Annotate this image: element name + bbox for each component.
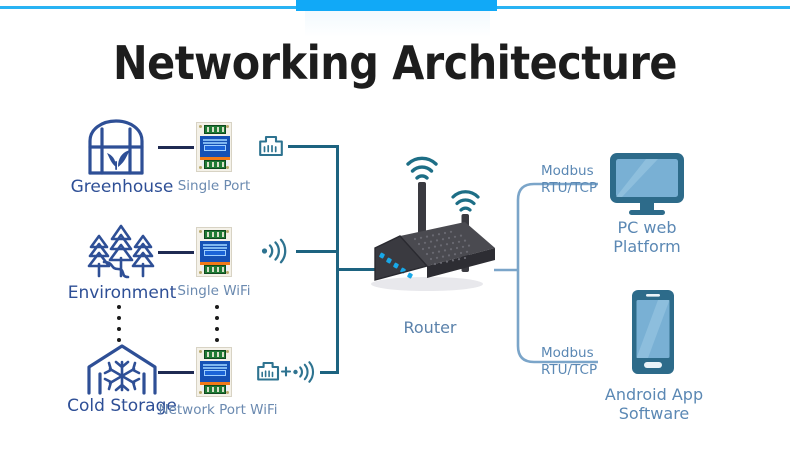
protocol-label-android-line1: Modbus [541,345,594,361]
link-greenhouse-to-device [158,146,194,149]
device-module-single-wifi [196,227,232,277]
cold-storage-icon [85,343,159,397]
router-node [355,140,505,300]
router-icon [355,140,505,300]
output-label-android-line1: Android App [580,385,728,404]
wifi-signal-icon [260,238,290,264]
device-module-network-port-wifi [196,347,232,397]
protocol-label-android-line2: RTU/TCP [541,362,597,378]
link-environment-to-device [158,251,194,254]
monitor-icon [607,151,687,219]
link-coldstorage-to-device [158,371,194,374]
device-module-single-port [196,122,232,172]
device-label-network-port-wifi: Network Port WiFi [152,402,284,418]
protocol-label-pc-line1: Modbus [541,163,594,179]
top-accent-glow [305,11,490,37]
output-label-pc-line2: Platform [587,237,707,256]
device-label-single-wifi: Single WiFi [162,283,266,299]
forest-river-icon [80,222,162,284]
ellipsis-devices [215,305,219,349]
smartphone-icon [630,288,676,376]
output-label-android-line2: Software [580,404,728,423]
protocol-label-pc-line2: RTU/TCP [541,180,597,196]
rj45-port-icon [258,134,284,158]
rj45-plus-wifi-icon [256,358,318,384]
link-rj45-to-bus [288,145,338,148]
networking-architecture-diagram: Networking Architecture Greenhouse [0,0,790,464]
output-label-pc-line1: PC web [587,218,707,237]
greenhouse-icon [86,117,158,179]
page-title: Networking Architecture [0,36,790,90]
top-accent-bar [296,0,497,11]
link-wifi-to-bus [296,250,338,253]
router-label: Router [365,318,495,337]
collector-bus-line [336,145,339,374]
device-label-single-port: Single Port [162,178,266,194]
